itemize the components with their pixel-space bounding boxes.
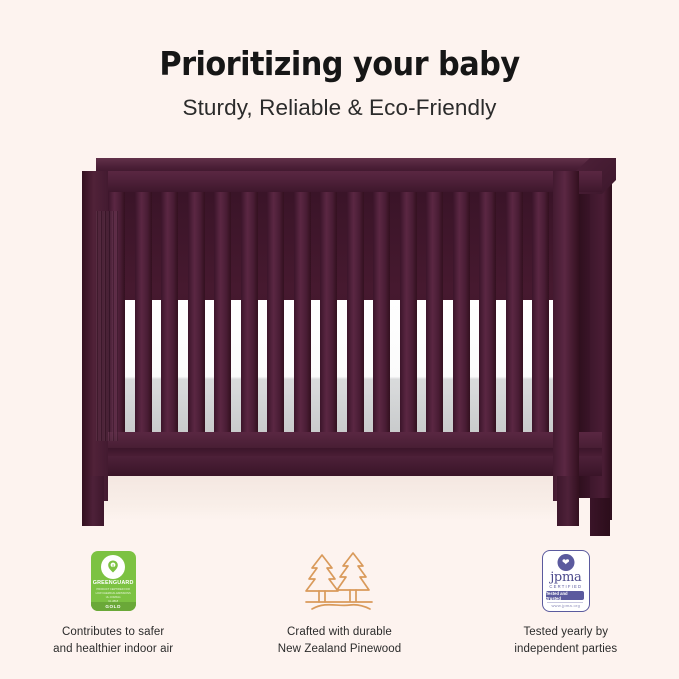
product-feature-page: Prioritizing your baby Sturdy, Reliable … xyxy=(0,0,679,679)
feature-greenguard: GREENGUARD PRODUCT CERTIFIED FOR LOW CHE… xyxy=(0,548,226,657)
pine-trees-line-art xyxy=(300,549,378,613)
crib-slat xyxy=(294,192,311,432)
crib-bottom-rail-middle xyxy=(82,448,602,456)
greenguard-gold-certified-icon: GREENGUARD PRODUCT CERTIFIED FOR LOW CHE… xyxy=(91,548,136,614)
crib-right-post xyxy=(553,171,579,501)
crib-slat xyxy=(188,192,205,432)
crib-slat xyxy=(426,192,443,432)
jpma-tested-trusted-bar: Tested and Trusted xyxy=(546,591,584,600)
greenguard-leaf-icon xyxy=(105,559,121,575)
feature-caption: Crafted with durable New Zealand Pinewoo… xyxy=(278,624,401,657)
greenguard-tier-label: GOLD xyxy=(91,602,136,611)
feature-pinewood: Crafted with durable New Zealand Pinewoo… xyxy=(226,548,452,657)
crib-slat xyxy=(135,192,152,432)
crib-slat xyxy=(373,192,390,432)
crib-rear-right-leg xyxy=(590,498,610,536)
crib-slat xyxy=(320,192,337,432)
heart-icon: ❤ xyxy=(562,558,570,567)
crib-slat xyxy=(161,192,178,432)
crib-floor-shadow xyxy=(104,476,559,520)
feature-badge-row: GREENGUARD PRODUCT CERTIFIED FOR LOW CHE… xyxy=(0,548,679,668)
crib-slat xyxy=(214,192,231,432)
greenguard-wordmark: GREENGUARD xyxy=(91,580,136,586)
crib-slat xyxy=(453,192,470,432)
crib-bottom-rail-upper xyxy=(82,432,602,448)
crib-slat xyxy=(241,192,258,432)
crib-right-leg xyxy=(557,476,579,526)
jpma-certified-icon: ❤ jpma CERTIFIED Tested and Trusted www.… xyxy=(542,548,590,614)
product-image-crib xyxy=(0,150,679,530)
greenguard-badge: GREENGUARD PRODUCT CERTIFIED FOR LOW CHE… xyxy=(91,551,136,611)
crib-slat xyxy=(267,192,284,432)
jpma-url: www.jpma.org xyxy=(543,603,589,608)
crib-top-rail-back xyxy=(96,158,591,171)
crib-left-post-fluting xyxy=(96,211,118,441)
feature-jpma: ❤ jpma CERTIFIED Tested and Trusted www.… xyxy=(453,548,679,657)
crib-slats xyxy=(108,192,576,432)
feature-caption: Contributes to safer and healthier indoo… xyxy=(53,624,173,657)
crib-slat xyxy=(506,192,523,432)
jpma-badge: ❤ jpma CERTIFIED Tested and Trusted www.… xyxy=(542,550,590,612)
crib-left-leg xyxy=(82,476,104,526)
crib-left-post xyxy=(82,171,108,501)
crib-slat xyxy=(479,192,496,432)
crib-illustration xyxy=(70,158,615,526)
crib-bottom-rail-lower xyxy=(82,456,602,476)
feature-caption: Tested yearly by independent parties xyxy=(514,624,617,657)
crib-slat xyxy=(347,192,364,432)
page-title: Prioritizing your baby xyxy=(27,46,652,82)
crib-top-rail-front xyxy=(82,171,602,192)
crib-slat xyxy=(400,192,417,432)
pine-trees-icon xyxy=(300,548,378,614)
jpma-wordmark: jpma xyxy=(543,571,589,584)
heading-block: Prioritizing your baby Sturdy, Reliable … xyxy=(0,46,679,121)
jpma-logo-circle: ❤ xyxy=(557,554,574,571)
page-subtitle: Sturdy, Reliable & Eco-Friendly xyxy=(0,96,679,121)
crib-slat xyxy=(532,192,549,432)
jpma-certified-label: CERTIFIED xyxy=(543,584,589,589)
